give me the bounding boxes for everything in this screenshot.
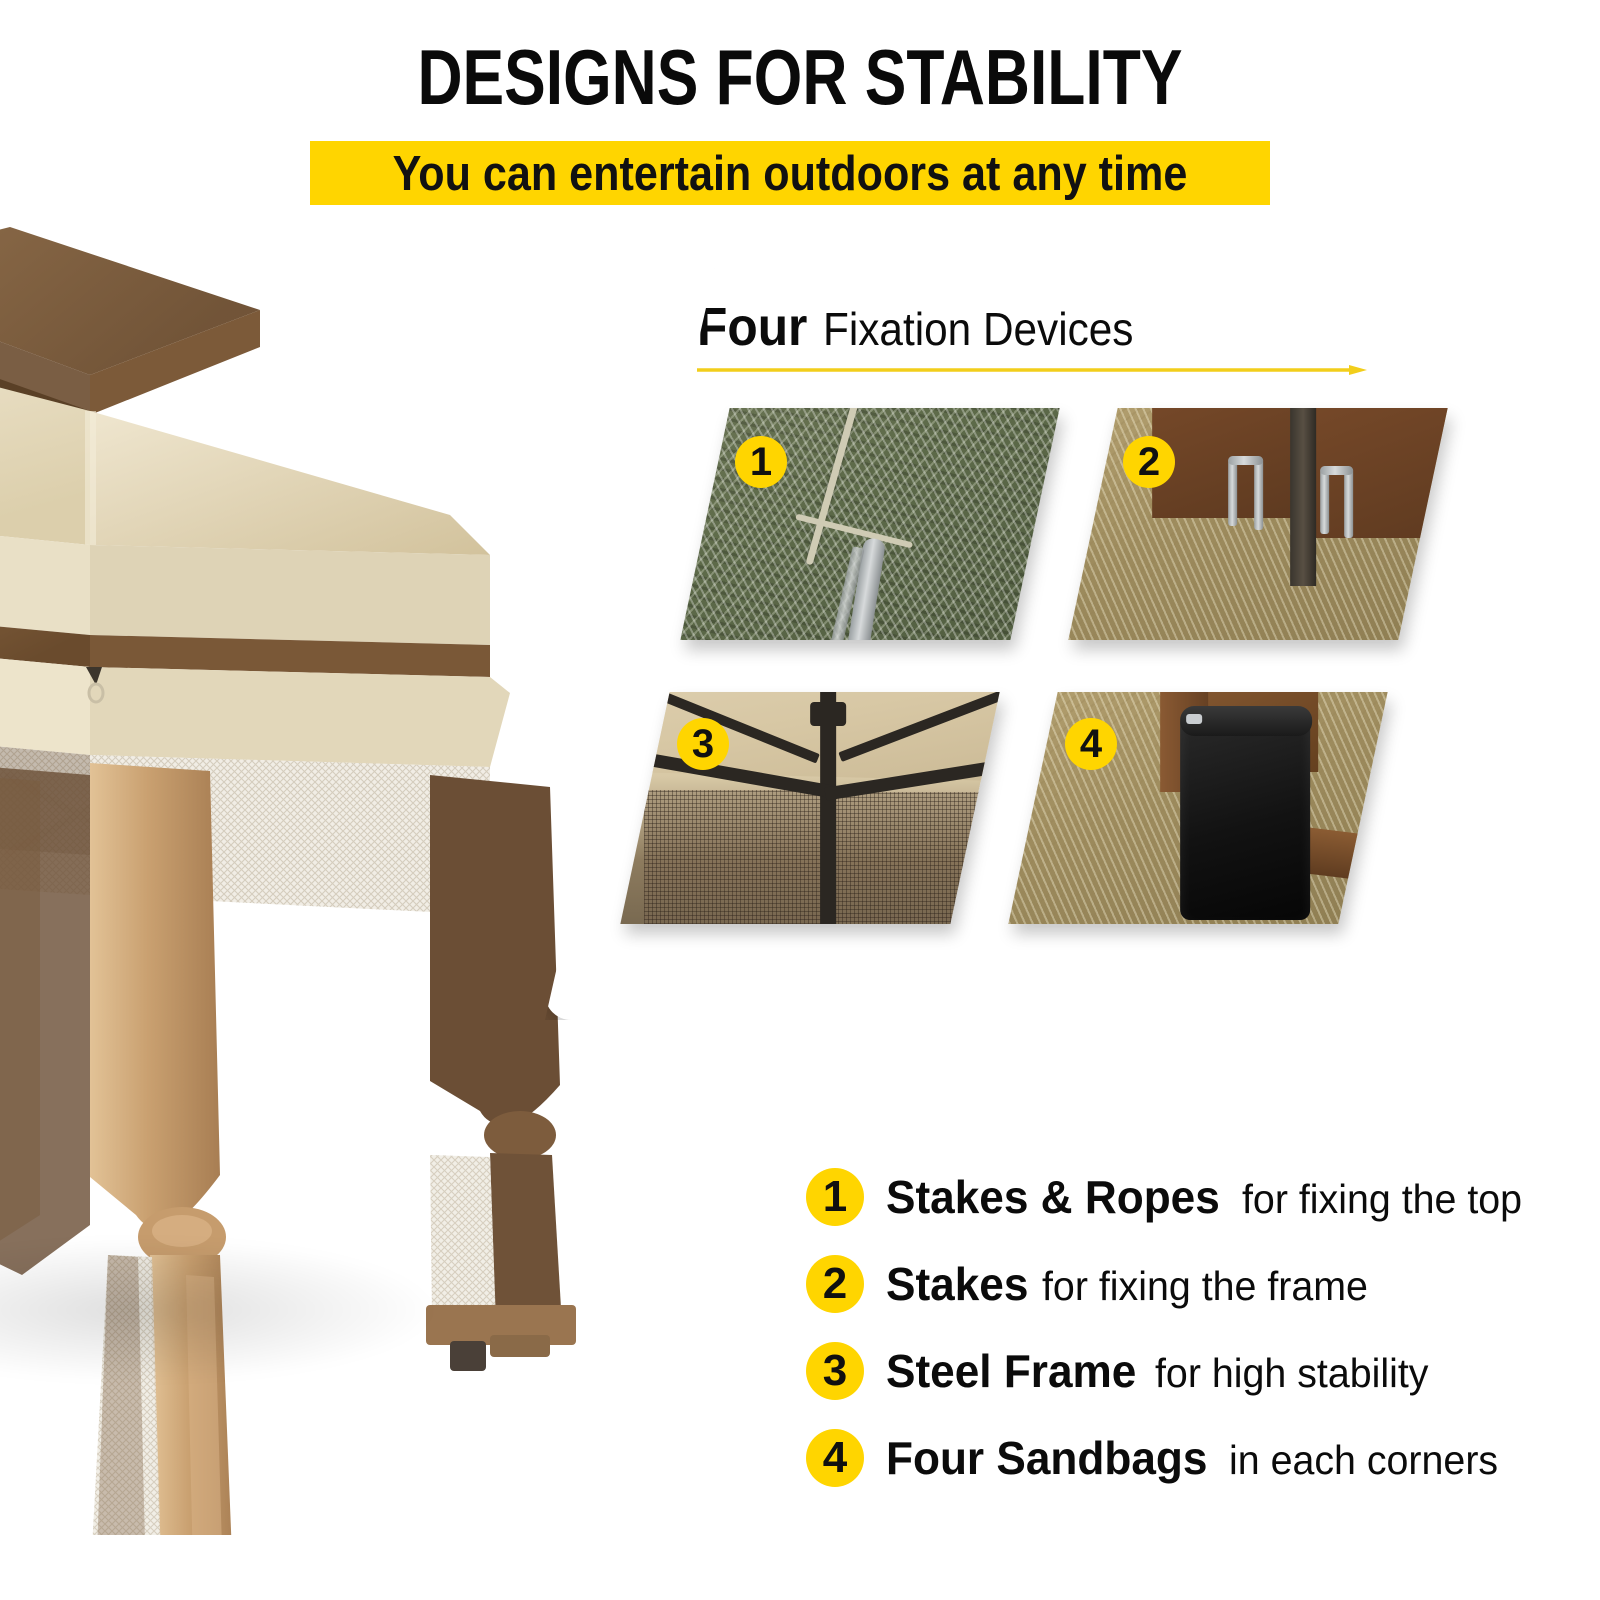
- legend-bold-2: Stakes: [886, 1253, 1028, 1315]
- photo-1-content: [680, 408, 1059, 640]
- u-stake-left-top: [1228, 456, 1263, 465]
- frame-hub: [810, 702, 846, 726]
- u-stake-left-b: [1254, 458, 1263, 530]
- subtitle-banner: You can entertain outdoors at any time: [310, 141, 1270, 205]
- legend-bold-4: Four Sandbags: [886, 1427, 1207, 1489]
- legend-bold-1: Stakes & Ropes: [886, 1166, 1220, 1228]
- photo-tile-3[interactable]: [620, 692, 999, 924]
- photo-4-content: [1008, 692, 1387, 924]
- photo-badge-3: 3: [677, 718, 729, 770]
- legend-text-4: Four Sandbagsin each corners: [886, 1427, 1509, 1491]
- photo-badge-2: 2: [1123, 436, 1175, 488]
- sandbag-zipper-pull: [1186, 714, 1202, 724]
- u-stake-right-top: [1320, 466, 1353, 475]
- legend-list: 1 Stakes & Ropesfor fixing the top 2 Sta…: [806, 1166, 1586, 1514]
- photo-tile-4[interactable]: [1008, 692, 1387, 924]
- u-stake-right-b: [1344, 468, 1353, 538]
- legend-rest-2: for fixing the frame: [1042, 1255, 1368, 1317]
- legend-row-1: 1 Stakes & Ropesfor fixing the top: [806, 1166, 1586, 1253]
- photo-badge-1: 1: [735, 436, 787, 488]
- photo-2-content: [1068, 408, 1447, 640]
- legend-badge-3: 3: [806, 1342, 864, 1400]
- legend-badge-1: 1: [806, 1168, 864, 1226]
- legend-row-3: 3 Steel Framefor high stability: [806, 1340, 1586, 1427]
- legend-text-3: Steel Framefor high stability: [886, 1340, 1440, 1404]
- mesh-panel-left: [644, 790, 824, 924]
- legend-badge-2: 2: [806, 1255, 864, 1313]
- photo-grid: 1 2: [545, 268, 1600, 1020]
- fixation-devices-card: FourFixation Devices 1: [545, 268, 1600, 1020]
- photo-badge-4: 4: [1065, 718, 1117, 770]
- black-sandbag: [1180, 710, 1310, 920]
- legend-text-2: Stakesfor fixing the frame: [886, 1253, 1382, 1317]
- subtitle-text: You can entertain outdoors at any time: [368, 141, 1213, 205]
- legend-text-1: Stakes & Ropesfor fixing the top: [886, 1166, 1533, 1230]
- legend-rest-1: for fixing the top: [1242, 1168, 1522, 1230]
- legend-row-2: 2 Stakesfor fixing the frame: [806, 1253, 1586, 1340]
- legend-rest-4: in each corners: [1229, 1429, 1498, 1491]
- legend-badge-4: 4: [806, 1429, 864, 1487]
- frame-leg-pole: [1290, 408, 1316, 586]
- legend-bold-3: Steel Frame: [886, 1340, 1136, 1402]
- page-title: DESIGNS FOR STABILITY: [160, 38, 1440, 116]
- legend-rest-3: for high stability: [1155, 1342, 1428, 1404]
- photo-tile-2[interactable]: [1068, 408, 1447, 640]
- product-ground-shadow: [0, 1235, 450, 1385]
- center-pole: [820, 692, 836, 924]
- photo-3-content: [620, 692, 999, 924]
- mesh-panel-right: [834, 792, 1000, 924]
- infographic-canvas: DESIGNS FOR STABILITY You can entertain …: [0, 0, 1600, 1600]
- u-stake-right-a: [1320, 468, 1329, 534]
- legend-row-4: 4 Four Sandbagsin each corners: [806, 1427, 1586, 1514]
- photo-tile-1[interactable]: [680, 408, 1059, 640]
- u-stake-left-a: [1228, 458, 1237, 526]
